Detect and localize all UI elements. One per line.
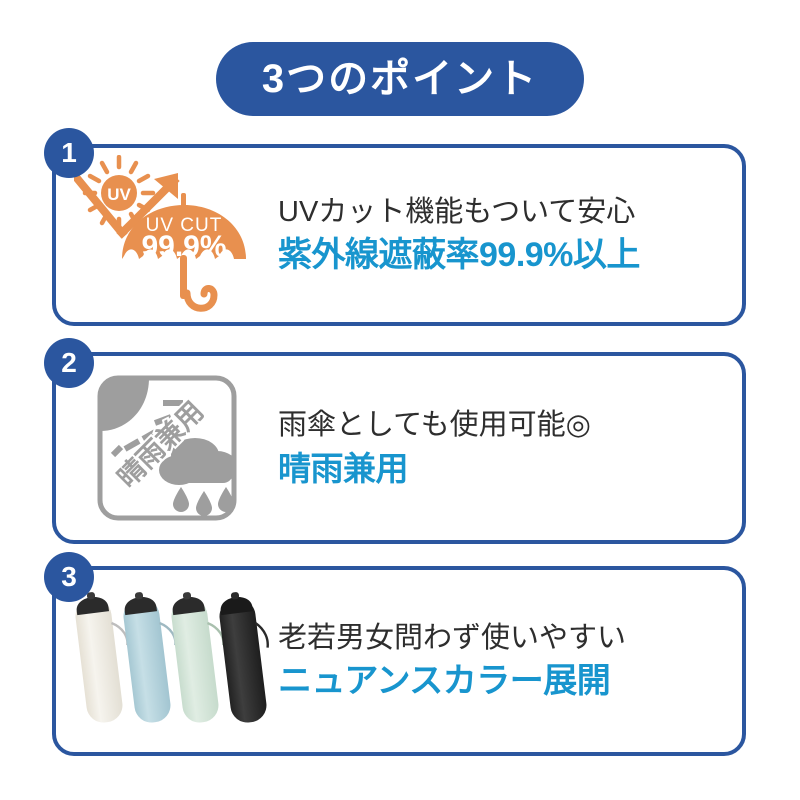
uv-cut-umbrella-icon: UV UV CUT	[74, 155, 260, 315]
point-card-2: 晴雨兼用 雨傘としても使用可能◎ 晴雨兼用	[52, 352, 746, 544]
point-2-icon-zone: 晴雨兼用	[56, 356, 278, 540]
point-1-accent: 紫外線遮蔽率99.9%以上	[278, 234, 732, 277]
point-2-text-zone: 雨傘としても使用可能◎ 晴雨兼用	[278, 407, 742, 489]
point-2-accent: 晴雨兼用	[278, 448, 732, 489]
point-1-text-zone: UVカット機能もついて安心 紫外線遮蔽率99.9%以上	[278, 194, 742, 277]
point-badge-3: 3	[44, 552, 94, 602]
point-badge-3-label: 3	[61, 563, 77, 591]
point-card-3: 老若男女問わず使いやすい ニュアンスカラー展開	[52, 566, 746, 756]
point-3-heading: 老若男女問わず使いやすい	[278, 620, 732, 656]
point-badge-1: 1	[44, 128, 94, 178]
point-3-text-zone: 老若男女問わず使いやすい ニュアンスカラー展開	[278, 620, 742, 703]
uv-cut-percent-label: 99.9%	[141, 230, 226, 263]
all-weather-icon: 晴雨兼用	[97, 375, 237, 521]
point-2-heading: 雨傘としても使用可能◎	[278, 407, 732, 443]
folded-umbrellas-photo	[65, 591, 269, 731]
point-1-heading: UVカット機能もついて安心	[278, 194, 732, 230]
umbrella-color-4	[217, 591, 269, 724]
point-badge-2: 2	[44, 338, 94, 388]
point-1-icon-zone: UV UV CUT	[56, 148, 278, 322]
svg-text:UV: UV	[107, 185, 131, 204]
point-card-1: UV UV CUT	[52, 144, 746, 326]
point-badge-1-label: 1	[61, 139, 77, 167]
page-title: 3つのポイント	[262, 59, 538, 99]
page-header-pill: 3つのポイント	[216, 42, 584, 116]
point-3-icon-zone	[56, 570, 278, 752]
point-badge-2-label: 2	[61, 349, 77, 377]
point-3-accent: ニュアンスカラー展開	[278, 660, 732, 703]
